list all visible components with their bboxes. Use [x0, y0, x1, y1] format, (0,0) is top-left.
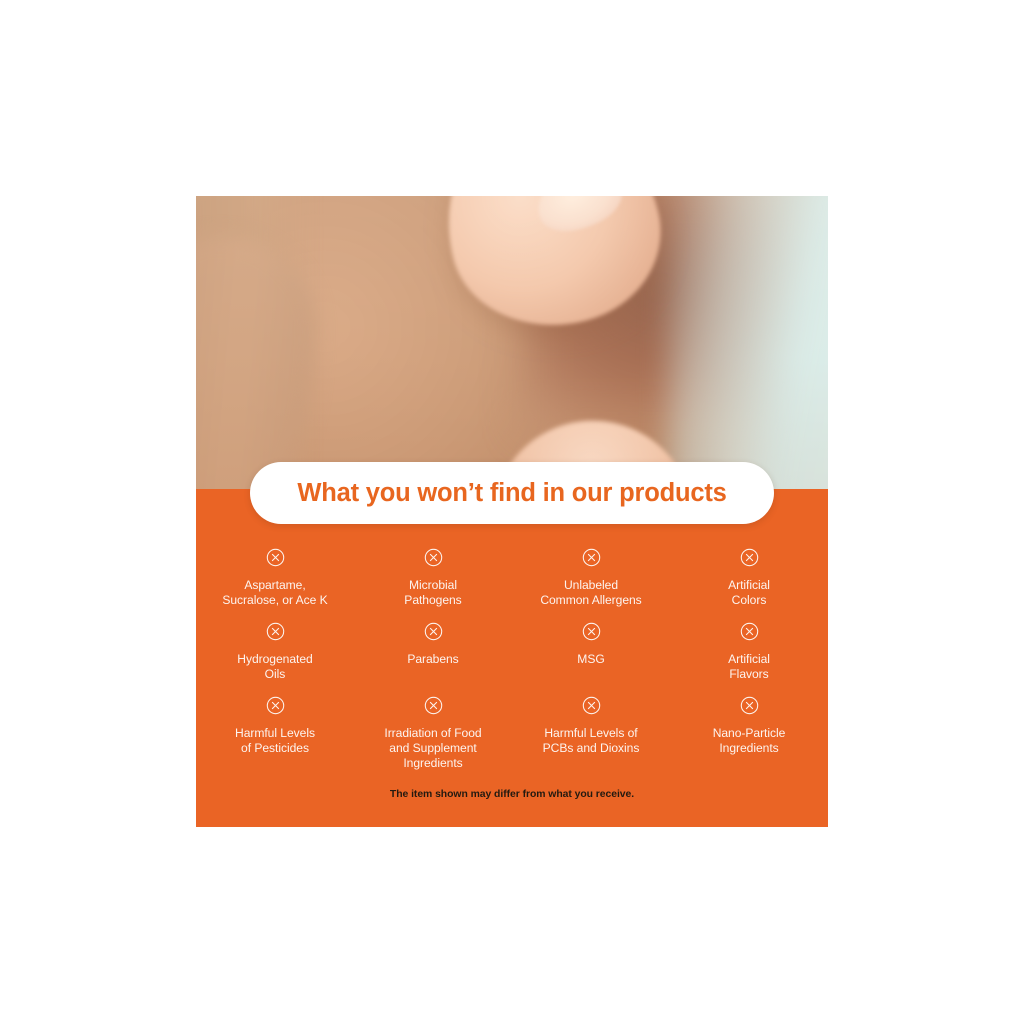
grid-item: Harmful Levels of PCBs and Dioxins — [512, 684, 670, 758]
grid-item: Artificial Flavors — [670, 610, 828, 684]
grid-item: Nano-Particle Ingredients — [670, 684, 828, 758]
circle-x-icon — [424, 548, 443, 572]
disclaimer-footnote: The item shown may differ from what you … — [196, 789, 828, 800]
circle-x-icon — [266, 696, 285, 720]
grid-item: Artificial Colors — [670, 536, 828, 610]
headline-text: What you won’t find in our products — [297, 479, 726, 508]
grid-item-label: Nano-Particle Ingredients — [709, 726, 790, 756]
headline-banner: What you won’t find in our products — [250, 462, 774, 524]
grid-item: MSG — [512, 610, 670, 684]
circle-x-icon — [424, 696, 443, 720]
photo-depth-veil — [196, 196, 828, 489]
grid-item-label: Irradiation of Food and Supplement Ingre… — [380, 726, 485, 771]
circle-x-icon — [740, 696, 759, 720]
grid-item-label: Unlabeled Common Allergens — [536, 578, 645, 608]
grid-item-label: Artificial Colors — [724, 578, 774, 608]
grid-item: Microbial Pathogens — [354, 536, 512, 610]
circle-x-icon — [740, 548, 759, 572]
grid-item: Unlabeled Common Allergens — [512, 536, 670, 610]
grid-item-label: MSG — [573, 652, 608, 667]
circle-x-icon — [582, 696, 601, 720]
headline-text-emphasis: won’t — [417, 479, 483, 507]
circle-x-icon — [740, 622, 759, 646]
grid-item-label: Harmful Levels of Pesticides — [231, 726, 319, 756]
circle-x-icon — [266, 548, 285, 572]
circle-x-icon — [582, 548, 601, 572]
product-photo — [196, 196, 828, 489]
excluded-ingredients-grid: Aspartame, Sucralose, or Ace K Microbial… — [196, 536, 828, 758]
grid-item-label: Microbial Pathogens — [400, 578, 465, 608]
grid-item-label: Aspartame, Sucralose, or Ace K — [218, 578, 331, 608]
grid-item: Irradiation of Food and Supplement Ingre… — [354, 684, 512, 758]
circle-x-icon — [424, 622, 443, 646]
grid-item: Parabens — [354, 610, 512, 684]
circle-x-icon — [266, 622, 285, 646]
circle-x-icon — [582, 622, 601, 646]
product-infographic-panel: What you won’t find in our products Aspa… — [196, 196, 828, 827]
grid-item: Aspartame, Sucralose, or Ace K — [196, 536, 354, 610]
grid-item-label: Harmful Levels of PCBs and Dioxins — [539, 726, 644, 756]
page-root: What you won’t find in our products Aspa… — [0, 0, 1024, 1024]
grid-item-label: Parabens — [403, 652, 462, 667]
grid-item-label: Hydrogenated Oils — [233, 652, 316, 682]
grid-item: Hydrogenated Oils — [196, 610, 354, 684]
headline-text-after: find in our products — [483, 479, 727, 507]
headline-text-before: What you — [297, 479, 417, 507]
grid-item: Harmful Levels of Pesticides — [196, 684, 354, 758]
grid-item-label: Artificial Flavors — [724, 652, 774, 682]
